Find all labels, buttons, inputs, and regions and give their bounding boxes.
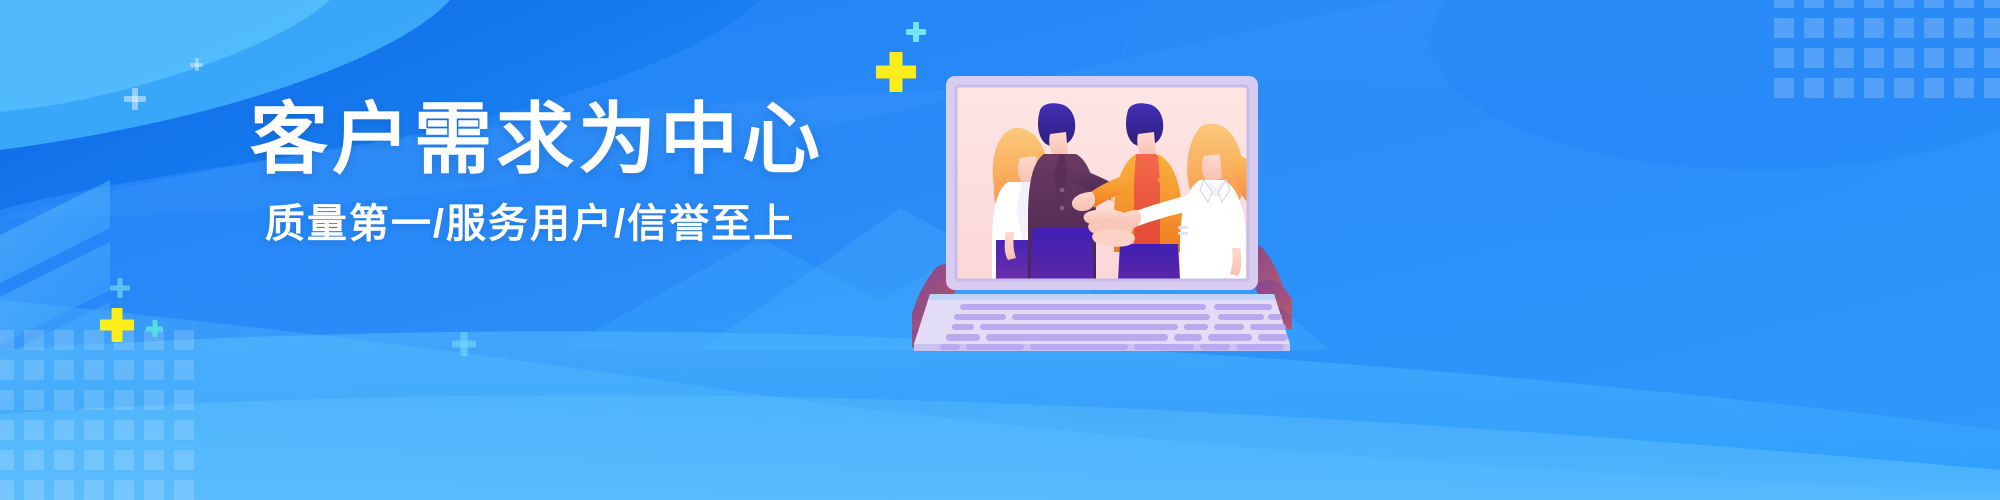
banner-subheadline: 质量第一/服务用户/信誉至上	[250, 204, 810, 244]
plus-sparkle-icon	[452, 332, 476, 356]
laptop-team-illustration	[912, 62, 1292, 352]
plus-sparkle-icon	[100, 308, 134, 342]
plus-sparkle-icon	[110, 278, 130, 298]
marketing-banner: 客户需求为中心 质量第一/服务用户/信誉至上	[0, 0, 2000, 500]
plus-sparkle-icon	[906, 22, 926, 42]
square-grid-bottom-left	[0, 330, 194, 500]
square-grid-top-right	[1774, 0, 2000, 98]
plus-sparkle-icon	[876, 52, 916, 92]
plus-sparkle-icon	[190, 58, 203, 71]
banner-headline: 客户需求为中心	[250, 100, 810, 178]
banner-copy: 客户需求为中心 质量第一/服务用户/信誉至上	[250, 100, 810, 244]
plus-sparkle-icon	[124, 88, 146, 110]
plus-sparkle-icon	[146, 320, 163, 337]
